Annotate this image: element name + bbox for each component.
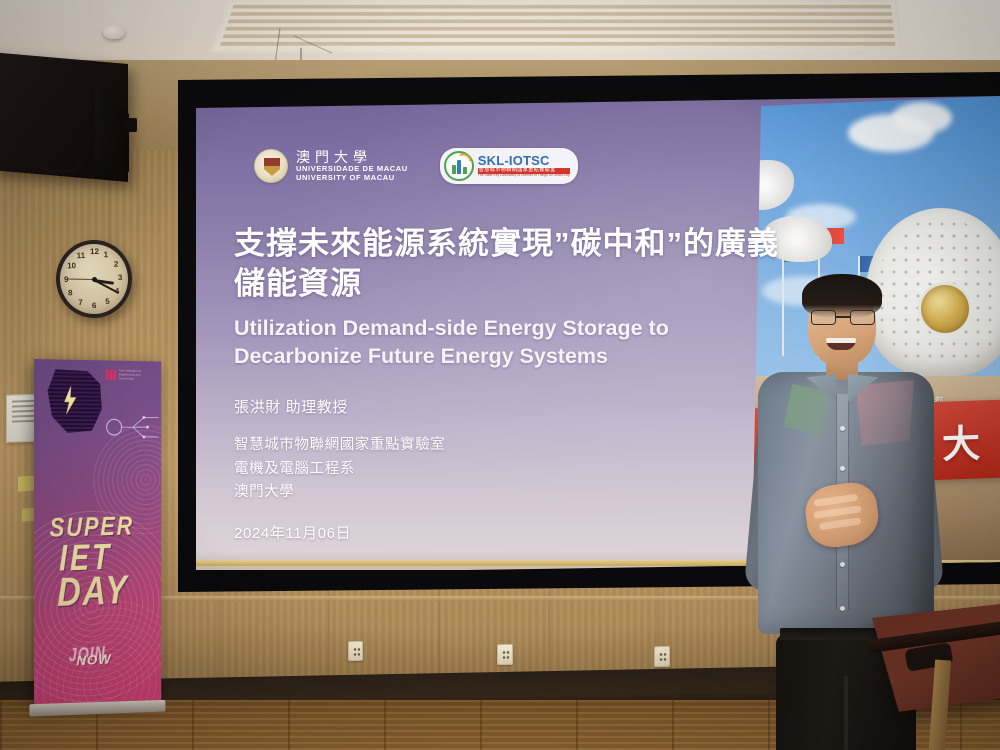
lecture-hall-photo: 121234567891011 The Insti [0,0,1000,750]
slide-title-english: Utilization Demand-side Energy Storage t… [234,314,764,371]
power-outlet [654,646,670,667]
iet-mark-icon [106,369,116,380]
slide-affiliation-lab: 智慧城市物聯網國家重點實驗室 [234,434,445,457]
iet-logo-subtitle: The Institution of Engineering and Techn… [119,369,156,381]
slide-logo-row: 澳門大學 UNIVERSIDADE DE MACAU UNIVERSITY OF… [254,148,578,184]
um-logo-cn: 澳門大學 [296,149,408,165]
um-logo-en: UNIVERSITY OF MACAU [296,174,408,183]
circuit-graphic [105,408,161,447]
rollup-banner: The Institution of Engineering and Techn… [34,359,161,709]
clock-numeral: 7 [78,298,83,307]
ceiling-projector-knob [125,118,137,132]
power-outlet [497,644,513,665]
banner-cta-now: NOW [76,651,111,669]
clock-numeral: 5 [105,297,110,306]
clock-numeral: 3 [118,273,123,282]
um-crest-icon [254,149,288,183]
university-of-macau-logo: 澳門大學 UNIVERSIDADE DE MACAU UNIVERSITY OF… [254,149,408,183]
slide-presenter-block: 張洪財 助理教授 智慧城市物聯網國家重點實驗室 電機及電腦工程系 澳門大學 20… [234,396,445,546]
clock-numeral: 1 [104,250,109,259]
banner-head-graphic [48,369,103,433]
slide-date: 2024年11月06日 [234,522,445,546]
clock-numeral: 6 [92,301,97,310]
clock-numeral: 12 [90,247,99,256]
clock-numeral: 8 [68,288,73,297]
slide-presenter-name: 張洪財 助理教授 [234,396,445,420]
clock-center-pin [91,276,96,281]
wall-clock: 121234567891011 [55,239,134,320]
clock-numeral: 10 [67,261,76,270]
clock-numeral: 2 [114,260,119,269]
wifi-icon [459,152,471,162]
slide-affiliation-dept: 電機及電腦工程系 [234,458,445,481]
slide-title-chinese: 支撐未來能源系統實現”碳中和”的廣義儲能資源 [234,224,794,303]
glasses-icon [810,310,876,325]
slide-affiliation-university: 澳門大學 [234,481,445,504]
skl-logo-en: The State Key Laboratory of Internet of … [478,174,570,177]
power-outlet [348,641,363,661]
clock-numeral: 11 [77,251,86,260]
skl-mark-icon [444,151,474,181]
skl-iotsc-logo: SKL-IOTSC 智慧城市物聯網國家重點實驗室 The State Key L… [440,148,578,184]
skl-logo-title: SKL-IOTSC [478,154,570,168]
iet-logo: The Institution of Engineering and Techn… [106,369,156,381]
smoke-detector-icon [103,25,125,39]
speaker-shirt-warm-patch [856,380,914,446]
banner-line-day: DAY [57,568,128,617]
